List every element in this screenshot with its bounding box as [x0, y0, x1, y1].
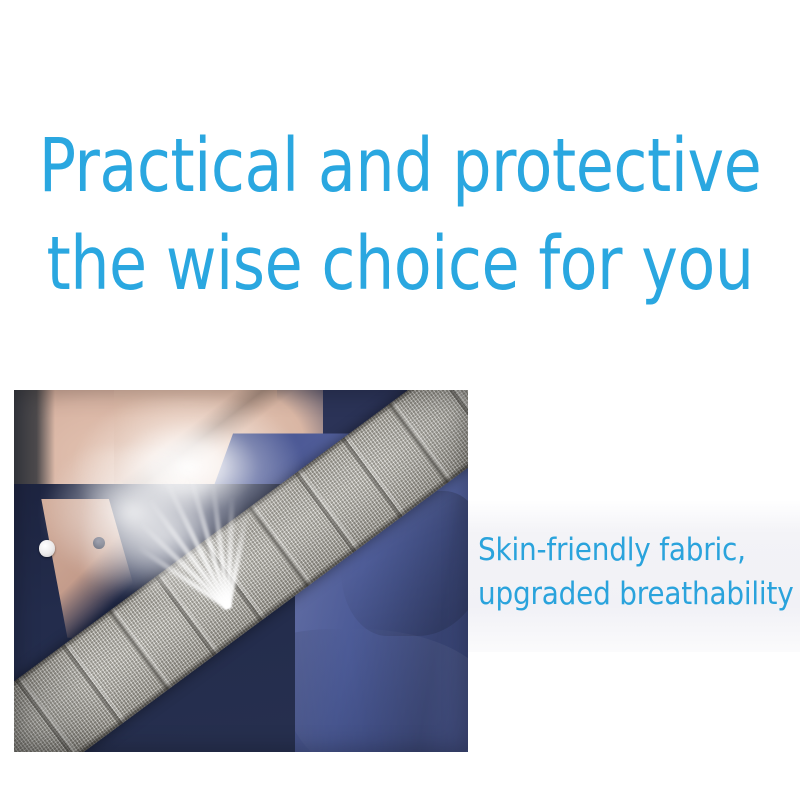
product-feature-banner: Practical and protective the wise choice… [0, 0, 800, 800]
headline-line-2: the wise choice for you [28, 216, 772, 314]
headline-line-1: Practical and protective [28, 118, 772, 216]
caption-line-2: upgraded breathability [478, 572, 800, 616]
feature-caption: Skin-friendly fabric, upgraded breathabi… [478, 528, 800, 616]
product-photo-scene [14, 390, 468, 752]
photo-airflow-rays [120, 444, 325, 617]
caption-line-1: Skin-friendly fabric, [478, 528, 800, 572]
product-photo [14, 390, 468, 752]
headline: Practical and protective the wise choice… [28, 118, 772, 313]
